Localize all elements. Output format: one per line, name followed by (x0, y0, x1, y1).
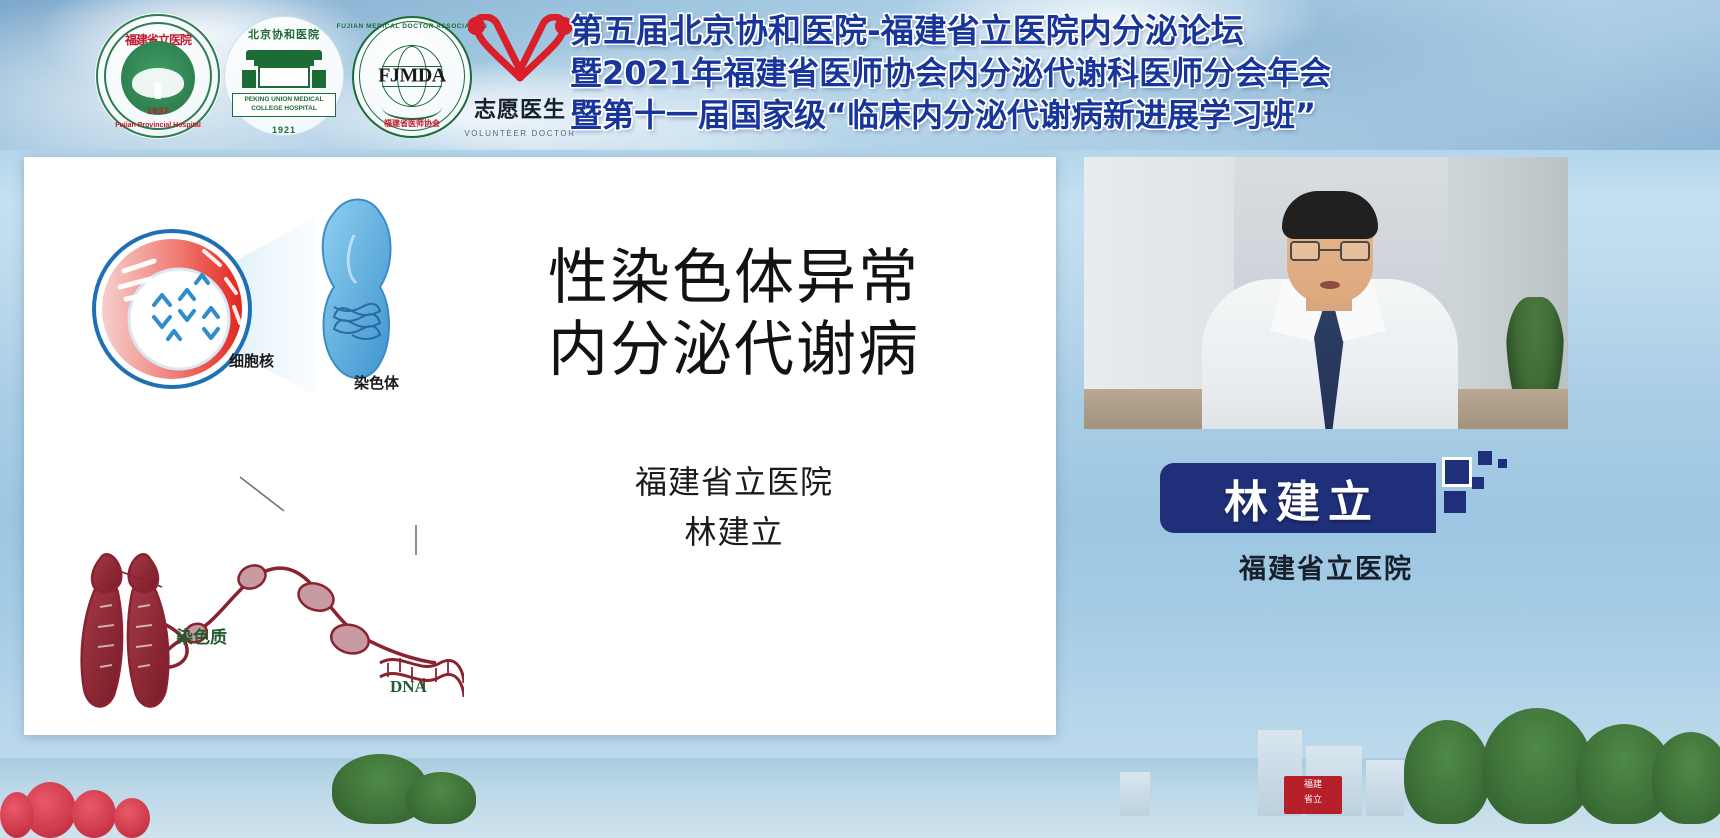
tree-silhouette (1652, 732, 1720, 824)
building-silhouette (1366, 760, 1404, 816)
cell-nucleus-chromosome-illustration (84, 187, 444, 457)
speaker-mouth (1320, 281, 1340, 289)
window-shape (278, 56, 285, 65)
decorative-square (1472, 477, 1484, 489)
slide-presenter: 林建立 (454, 507, 1014, 557)
webinar-screen: 福建省立医院 1937 Fujian Provincial Hospital 北… (0, 0, 1720, 838)
side-wing (312, 70, 326, 88)
event-banner: 福建省立医院 1937 Fujian Provincial Hospital 北… (0, 0, 1720, 150)
logo-english-name: Fujian Provincial Hospital (115, 122, 201, 129)
slide-title: 性染色体异常 内分泌代谢病 (454, 242, 1014, 386)
eyeglasses-bridge (1320, 249, 1340, 251)
wreath-icon (382, 94, 442, 120)
volunteer-doctor-logo: 志愿医生 VOLUNTEER DOCTOR (462, 14, 578, 144)
event-title: 第五届北京协和医院-福建省立医院内分泌论坛 暨2021年福建省医师协会内分泌代谢… (570, 10, 1710, 136)
hospital-sign-line1: 福建 (1284, 776, 1342, 791)
speaker-nameplate: 林建立 (1160, 463, 1436, 533)
slide-title-line2: 内分泌代谢病 (454, 314, 1014, 386)
bottom-scenery: 福建 省立 (0, 728, 1720, 838)
logo-abbreviation: FJMDA (378, 65, 445, 88)
fujian-medical-doctor-association-logo: FUJIAN MEDICAL DOCTOR ASSOCIATION FJMDA … (352, 14, 472, 138)
label-chromatin: 染色质 (176, 623, 227, 648)
event-title-line1: 第五届北京协和医院-福建省立医院内分泌论坛 (570, 10, 1710, 52)
speaker-video-feed[interactable] (1084, 157, 1568, 429)
side-wing (242, 70, 256, 88)
speaker-nameplate-area: 林建立 福建省立医院 (1084, 429, 1568, 619)
tree-silhouette (406, 772, 476, 824)
slide-title-line1: 性染色体异常 (454, 242, 1014, 314)
decorative-square (1498, 459, 1507, 468)
building-silhouette (1120, 772, 1150, 816)
decorative-square (1478, 451, 1492, 465)
presentation-slide[interactable]: 细胞核 染色体 染色质 DNA 染色体 性染色体异常 内分泌代谢病 福建省立医院… (24, 157, 1056, 735)
eyeglasses-right-lens (1340, 241, 1370, 261)
tree-trunk-icon (155, 83, 161, 99)
label-dna: DNA (390, 677, 427, 697)
event-title-line3: 暨第十一届国家级“临床内分泌代谢病新进展学习班” (570, 94, 1710, 136)
speaker-affiliation: 福建省立医院 (1084, 547, 1568, 586)
flower-decoration (72, 790, 116, 838)
event-title-line2: 暨2021年福建省医师协会内分泌代谢科医师分会年会 (570, 52, 1710, 94)
logo-english-line1: PEKING UNION MEDICAL (244, 96, 323, 103)
tree-silhouette (1404, 720, 1490, 824)
building-body (258, 66, 310, 88)
logo-chinese-name: 北京协和医院 (248, 26, 320, 42)
slide-affiliation: 福建省立医院 (454, 457, 1014, 507)
label-nucleus: 细胞核 (229, 350, 274, 371)
fujian-provincial-hospital-logo: 福建省立医院 1937 Fujian Provincial Hospital (96, 14, 220, 138)
flower-decoration (114, 798, 150, 838)
logo-chinese-name: 福建省医师协会 (384, 118, 440, 129)
window-shape (302, 56, 309, 65)
heart-stethoscope-icon (468, 14, 572, 88)
window-shape (290, 56, 297, 65)
logo-english-name: VOLUNTEER DOCTOR (464, 129, 575, 138)
decorative-square (1442, 457, 1472, 487)
logo-english-name: PEKING UNION MEDICALCOLLEGE HOSPITAL (244, 95, 323, 113)
eyeglasses-left-lens (1290, 241, 1320, 261)
hospital-sign-line2: 省立 (1284, 791, 1342, 806)
logo-chinese-name: 志愿医生 (474, 92, 566, 124)
peking-union-medical-college-hospital-logo: 北京协和医院 PEKING UNION MEDICALCOLLEGE HOSPI… (224, 14, 344, 138)
hospital-sign: 福建 省立 (1284, 776, 1342, 814)
flower-decoration (0, 792, 34, 838)
logo-year: 1937 (147, 106, 169, 116)
gate-building-icon (242, 50, 326, 92)
logo-english-line2: COLLEGE HOSPITAL (251, 105, 317, 112)
speaker-name: 林建立 (1216, 466, 1380, 530)
speaker-hair (1282, 191, 1378, 239)
logo-emblem (121, 41, 195, 115)
leader-line (240, 477, 284, 511)
slide-subtitle: 福建省立医院 林建立 (454, 457, 1014, 557)
label-chromosome-top: 染色体 (354, 372, 399, 393)
decorative-square (1444, 491, 1466, 513)
logo-year: 1921 (272, 125, 296, 135)
window-shape (266, 56, 273, 65)
